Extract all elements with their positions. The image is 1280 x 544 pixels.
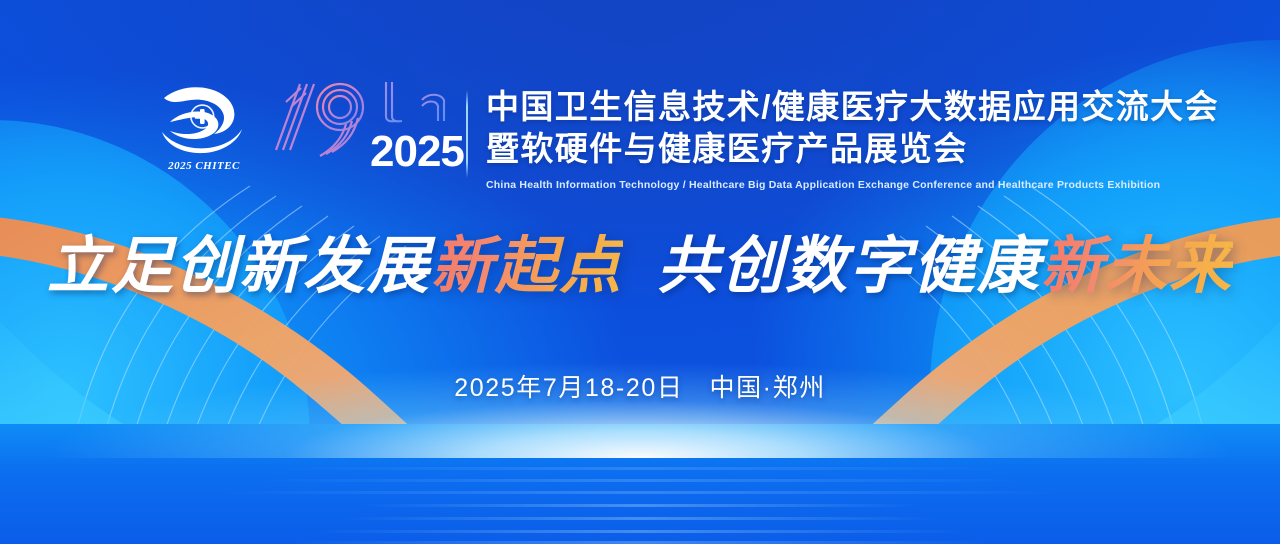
- chitec-bird-cross-logo: [156, 82, 252, 156]
- slogan-part1-accent: 新起点: [431, 233, 623, 301]
- slogan-part2-accent: 新未来: [1041, 233, 1233, 301]
- title-block: 中国卫生信息技术/健康医疗大数据应用交流大会 暨软硬件与健康医疗产品展览会 Ch…: [486, 86, 1219, 191]
- header-row: 2025 CHITEC: [152, 82, 470, 182]
- slogan-part2-white: 共创数字健康: [657, 233, 1041, 301]
- edition-block: 2025: [270, 82, 470, 182]
- title-line-2: 暨软硬件与健康医疗产品展览会: [486, 128, 1219, 170]
- conference-banner: 2025 CHITEC: [0, 0, 1280, 544]
- slogan-part1-white: 立足创新发展: [47, 233, 431, 301]
- title-divider: [466, 90, 468, 178]
- chitec-logo: 2025 CHITEC: [152, 82, 256, 172]
- title-english: China Health Information Technology / He…: [486, 179, 1219, 191]
- date-location-row: 2025年7月18-20日中国·郑州: [0, 368, 1280, 404]
- slogan: 立足创新发展新起点共创数字健康新未来: [0, 236, 1280, 298]
- edition-year: 2025: [370, 130, 464, 174]
- title-line-1: 中国卫生信息技术/健康医疗大数据应用交流大会: [486, 86, 1219, 128]
- event-location: 中国·郑州: [709, 374, 825, 402]
- event-date: 2025年7月18-20日: [454, 374, 683, 402]
- logo-caption: 2025 CHITEC: [168, 160, 240, 172]
